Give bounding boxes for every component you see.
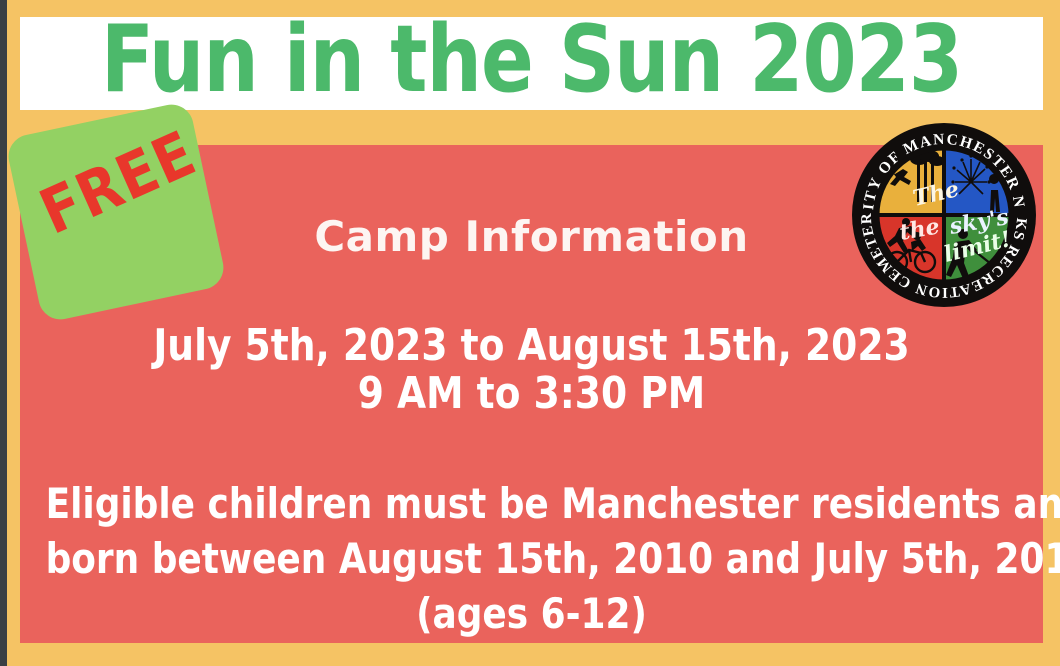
eligibility-line-2: born between August 15th, 2010 and July … [46, 531, 1018, 586]
left-edge-strip [0, 0, 7, 666]
page-title: Fun in the Sun 2023 [56, 9, 1007, 109]
camp-hours: 9 AM to 3:30 PM [46, 370, 1018, 418]
eligibility-line-3: (ages 6-12) [46, 586, 1018, 641]
camp-date-range: July 5th, 2023 to August 15th, 2023 [46, 322, 1018, 370]
camp-dates-block: July 5th, 2023 to August 15th, 2023 9 AM… [46, 322, 1018, 418]
eligibility-line-1: Eligible children must be Manchester res… [46, 476, 1018, 531]
camp-information-heading: Camp Information [20, 210, 1043, 264]
eligibility-block: Eligible children must be Manchester res… [46, 476, 1018, 641]
camp-flyer: Fun in the Sun 2023 FREE [0, 0, 1060, 666]
